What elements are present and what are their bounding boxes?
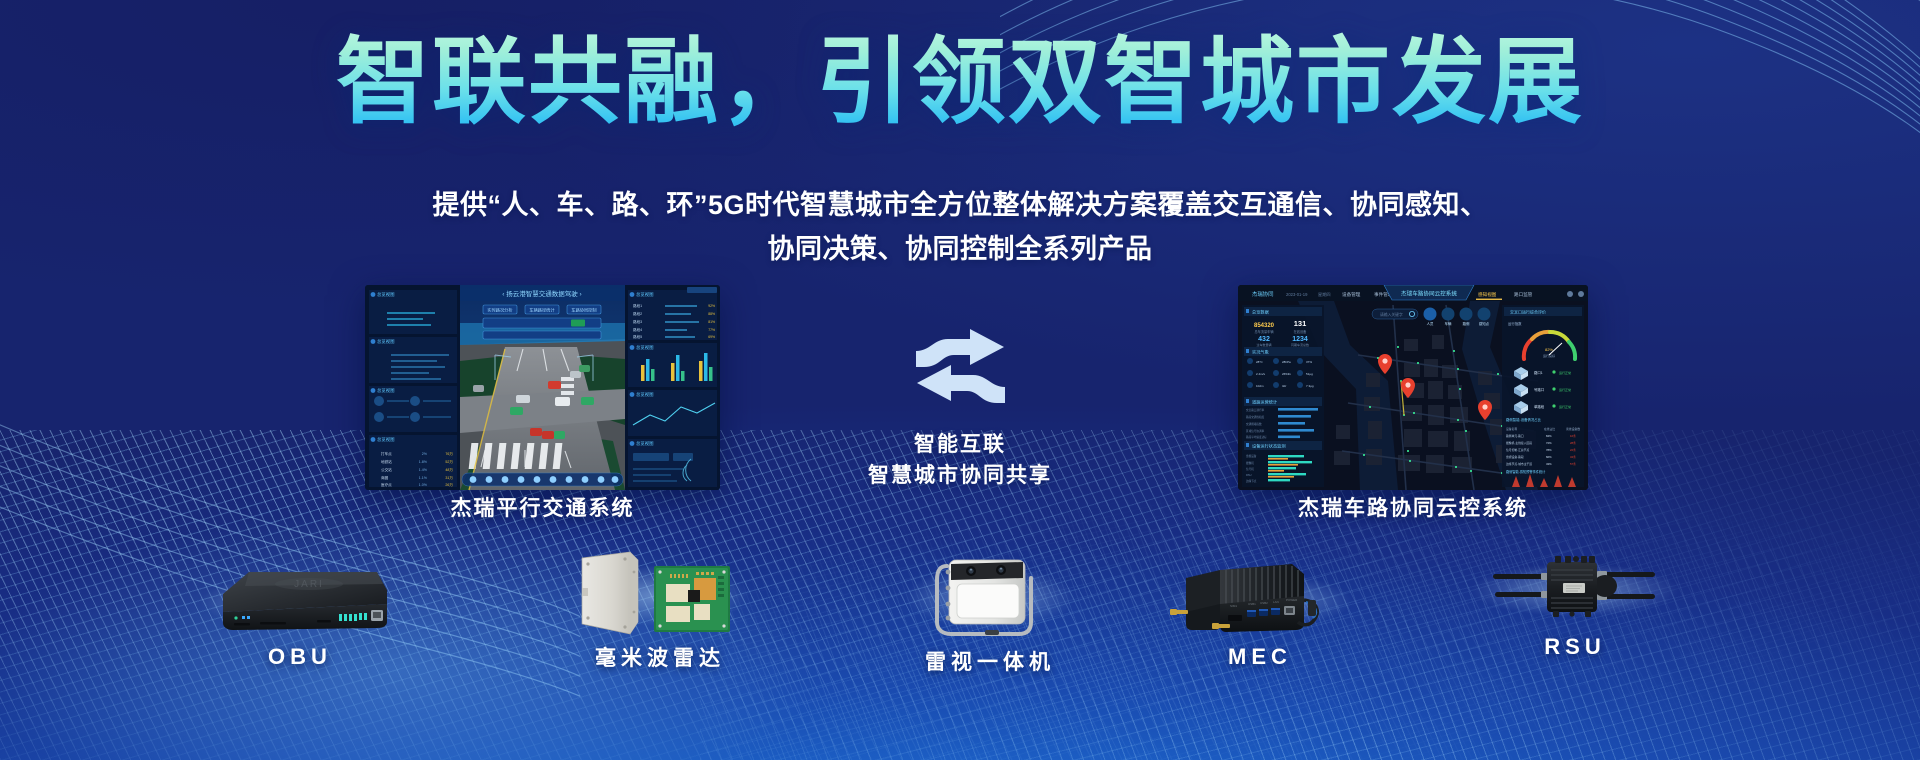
- svg-text:路段3: 路段3: [633, 319, 642, 324]
- svg-text:10dm: 10dm: [1256, 384, 1264, 388]
- svg-text:路口监管: 路口监管: [1514, 291, 1533, 298]
- center-text-line-1: 智能互联: [855, 429, 1065, 460]
- svg-text:1.4%: 1.4%: [419, 468, 428, 472]
- svg-text:离线设备数: 离线设备数: [1566, 427, 1580, 431]
- product-mmwave-radar: 毫米波雷达: [545, 548, 775, 672]
- svg-text:运行正常: 运行正常: [1559, 387, 1571, 392]
- product-label-radar: 毫米波雷达: [545, 642, 775, 672]
- svg-text:28°C: 28°C: [1256, 360, 1264, 364]
- center-text-line-2: 智慧城市协同共享: [855, 460, 1065, 491]
- svg-text:LAN: LAN: [1273, 600, 1279, 604]
- svg-text:路段平均速度达标: 路段平均速度达标: [1246, 435, 1267, 439]
- page-title: 智联共融，引领双智城市发展: [0, 28, 1920, 135]
- svg-text:路段2: 路段2: [633, 311, 642, 316]
- svg-text:杰瑞协同: 杰瑞协同: [1252, 290, 1274, 298]
- svg-text:摄像机-主线接入区段: 摄像机-主线接入区段: [1506, 441, 1532, 445]
- product-radar-vision-camera: 雷视一体机: [880, 548, 1100, 676]
- svg-text:69%: 69%: [708, 335, 715, 339]
- svg-text:‹ 扬云港智慧交通数据驾驶 ›: ‹ 扬云港智慧交通数据驾驶 ›: [502, 289, 581, 298]
- svg-text:52万: 52万: [445, 460, 453, 464]
- svg-text:人员: 人员: [1427, 321, 1434, 326]
- product-obu: JARI OBU: [170, 560, 430, 670]
- svg-text:总览视图: 总览视图: [377, 436, 395, 443]
- svg-text:交叉口运行综合评价: 交叉口运行综合评价: [1510, 309, 1546, 315]
- banner-stage: 智联共融，引领双智城市发展 提供“人、车、路、环”5G时代智慧城市全方位整体解决…: [0, 0, 1920, 760]
- svg-text:总览视图: 总览视图: [377, 338, 395, 345]
- svg-text:运行正常: 运行正常: [1559, 404, 1571, 409]
- svg-text:72%: 72%: [1546, 441, 1552, 445]
- svg-text:实况气象: 实况气象: [1252, 349, 1269, 356]
- svg-text:总览视图: 总览视图: [636, 291, 654, 298]
- svg-text:432: 432: [1258, 336, 1270, 343]
- svg-text:医疗点: 医疗点: [381, 482, 392, 487]
- svg-text:路侧: 路侧: [1463, 321, 1470, 326]
- svg-text:31万: 31万: [445, 476, 453, 480]
- svg-text:1.0%: 1.0%: [419, 483, 428, 487]
- subtitle-line-1: 提供“人、车、路、环”5G时代智慧城市全方位整体解决方案覆盖交互通信、协同感知、: [0, 183, 1920, 227]
- svg-text:交通拥堵指数: 交通拥堵指数: [1246, 422, 1262, 426]
- svg-text:雷视设备-路段: 雷视设备-路段: [1506, 455, 1524, 459]
- svg-text:POWER: POWER: [1286, 598, 1298, 602]
- svg-text:66%: 66%: [1546, 455, 1552, 459]
- center-exchange-block: 智能互联 智慧城市协同共享: [855, 325, 1065, 491]
- svg-text:2.4m/s: 2.4m/s: [1256, 372, 1266, 376]
- radar-vision-camera-icon: [880, 548, 1100, 644]
- svg-text:7.3µg: 7.3µg: [1306, 384, 1314, 388]
- svg-text:854320: 854320: [1254, 323, 1275, 329]
- svg-text:单路段: 单路段: [1534, 404, 1545, 409]
- svg-text:26万: 26万: [445, 483, 453, 487]
- svg-text:杰瑞车路协同云控系统: 杰瑞车路协同云控系统: [1401, 290, 1457, 298]
- svg-text:信号控制-汇总节点: 信号控制-汇总节点: [1506, 448, 1530, 452]
- svg-text:路侧智能-设备情况占比: 路侧智能-设备情况占比: [1506, 417, 1542, 422]
- svg-text:88%: 88%: [708, 312, 715, 316]
- svg-text:总览视图: 总览视图: [636, 344, 654, 351]
- svg-text:76万: 76万: [445, 452, 453, 456]
- obu-device-icon: JARI: [170, 560, 430, 640]
- svg-text:运行正常: 运行正常: [1559, 370, 1571, 375]
- svg-text:摄像机: 摄像机: [1246, 461, 1254, 465]
- svg-text:92%: 92%: [708, 304, 715, 308]
- svg-text:82%: 82%: [1545, 347, 1553, 352]
- svg-text:81%: 81%: [708, 320, 715, 324]
- svg-text:34条: 34条: [1570, 455, 1576, 459]
- svg-text:16条: 16条: [1570, 434, 1576, 438]
- svg-text:道路运营统计: 道路运营统计: [1252, 399, 1277, 406]
- svg-text:2654lx: 2654lx: [1282, 372, 1291, 376]
- page-subtitle: 提供“人、车、路、环”5G时代智慧城市全方位整体解决方案覆盖交互通信、协同感知、…: [0, 183, 1920, 271]
- svg-text:号路口: 号路口: [1534, 387, 1544, 392]
- svg-text:信号机: 信号机: [1246, 467, 1254, 471]
- svg-text:SIM1: SIM1: [1230, 604, 1237, 608]
- mec-edge-computer-icon: SIM1USB1 USB2LANPOWER: [1140, 558, 1380, 640]
- svg-text:过车数量辆: 过车数量辆: [1256, 342, 1271, 347]
- svg-text:28hPa: 28hPa: [1282, 360, 1291, 364]
- svg-text:请输入关键字: 请输入关键字: [1380, 312, 1403, 317]
- svg-text:总览数据: 总览数据: [1252, 309, 1269, 316]
- product-label-mec: MEC: [1140, 644, 1380, 670]
- product-label-camera: 雷视一体机: [880, 646, 1100, 676]
- svg-text:边缘节点: 边缘节点: [1246, 479, 1257, 483]
- svg-text:路段5: 路段5: [633, 334, 642, 339]
- caption-left-screen: 杰瑞平行交通系统: [365, 492, 720, 522]
- svg-text:57条: 57条: [1570, 462, 1576, 466]
- svg-text:商圈: 商圈: [381, 475, 389, 480]
- svg-text:交叉路口通行率: 交叉路口通行率: [1246, 408, 1265, 412]
- svg-text:感知点: 感知点: [1479, 321, 1490, 326]
- svg-text:边缘节点-城市主干道: 边缘节点-城市主干道: [1506, 462, 1532, 466]
- svg-text:实时路况分析: 实时路况分析: [487, 307, 512, 314]
- svg-text:28条: 28条: [1570, 441, 1576, 445]
- svg-text:感知视图: 感知视图: [1478, 291, 1497, 298]
- product-mec: SIM1USB1 USB2LANPOWER MEC: [1140, 558, 1380, 670]
- svg-text:JARI: JARI: [294, 579, 324, 590]
- svg-text:48万: 48万: [445, 468, 453, 472]
- svg-text:地铁站: 地铁站: [381, 459, 392, 464]
- svg-text:打车点: 打车点: [381, 451, 392, 456]
- svg-text:1234: 1234: [1292, 336, 1308, 343]
- svg-text:131: 131: [1294, 319, 1307, 328]
- svg-text:同期车流总数: 同期车流总数: [1291, 342, 1309, 347]
- svg-text:区域信号协调率: 区域信号协调率: [1246, 429, 1265, 433]
- svg-text:在线占比: 在线占比: [1544, 427, 1555, 431]
- svg-text:总车流量车辆: 总车流量车辆: [1254, 329, 1274, 334]
- svg-text:总览视图: 总览视图: [636, 440, 654, 447]
- svg-text:车辆路径统计: 车辆路径统计: [529, 307, 554, 314]
- svg-text:总览视图: 总览视图: [377, 291, 395, 298]
- svg-text:雷视设备: 雷视设备: [1246, 454, 1257, 458]
- svg-text:路段4: 路段4: [633, 327, 642, 332]
- svg-text:78%: 78%: [1546, 448, 1552, 452]
- svg-text:84%: 84%: [1546, 434, 1552, 438]
- svg-text:51µg: 51µg: [1306, 372, 1313, 376]
- screenshot-cloud-control-system: 杰瑞协同 2023-01-19 星期四 设备管理 事件管理 感知视图 路口监管 …: [1238, 285, 1588, 490]
- svg-text:1.8%: 1.8%: [419, 460, 428, 464]
- caption-right-screen: 杰瑞车路协同云控系统: [1238, 492, 1588, 522]
- svg-text:路段交通饱和度: 路段交通饱和度: [1246, 415, 1265, 419]
- svg-text:USB2: USB2: [1260, 601, 1268, 605]
- svg-text:运行指数: 运行指数: [1508, 321, 1522, 326]
- svg-text:2023-01-19: 2023-01-19: [1286, 292, 1308, 297]
- svg-text:77%: 77%: [708, 328, 715, 332]
- svg-text:设备名称: 设备名称: [1506, 427, 1517, 431]
- svg-text:路段1: 路段1: [633, 303, 642, 308]
- svg-text:车辆: 车辆: [1445, 321, 1452, 326]
- svg-text:22条: 22条: [1570, 448, 1576, 452]
- screenshot-parallel-traffic-system: ‹ 扬云港智慧交通数据驾驶 › 实时路况分析 车辆路径统计 车路协同控制: [365, 285, 720, 490]
- svg-text:43%: 43%: [1546, 462, 1552, 466]
- svg-text:总览视图: 总览视图: [636, 391, 654, 398]
- svg-text:在线设备: 在线设备: [1294, 329, 1308, 334]
- exchange-arrows-icon: [908, 325, 1013, 413]
- svg-text:公交站: 公交站: [381, 467, 392, 472]
- svg-text:车路协同控制: 车路协同控制: [571, 307, 596, 314]
- subtitle-line-2: 协同决策、协同控制全系列产品: [0, 227, 1920, 271]
- svg-text:运行良好: 运行良好: [1543, 353, 1555, 358]
- svg-text:路口1: 路口1: [1534, 370, 1543, 375]
- mmwave-radar-icon: [545, 548, 775, 640]
- svg-text:1.1%: 1.1%: [419, 476, 428, 480]
- svg-text:路侧智能-感知预警事件统计: 路侧智能-感知预警事件统计: [1506, 469, 1546, 474]
- product-label-obu: OBU: [170, 644, 430, 670]
- svg-text:USB1: USB1: [1248, 602, 1256, 606]
- product-rsu: RSU: [1440, 548, 1710, 660]
- svg-text:3dr: 3dr: [1282, 384, 1286, 388]
- svg-text:37%: 37%: [1306, 360, 1312, 364]
- product-label-rsu: RSU: [1440, 634, 1710, 660]
- svg-text:2%: 2%: [422, 452, 428, 456]
- svg-text:设备管理: 设备管理: [1342, 291, 1361, 298]
- svg-text:路侧单元-路口: 路侧单元-路口: [1506, 434, 1524, 438]
- svg-text:设备运行状态监测: 设备运行状态监测: [1252, 443, 1286, 450]
- svg-text:RSU: RSU: [1246, 473, 1252, 477]
- rsu-roadside-unit-icon: [1440, 548, 1710, 628]
- svg-text:总览视图: 总览视图: [377, 387, 395, 394]
